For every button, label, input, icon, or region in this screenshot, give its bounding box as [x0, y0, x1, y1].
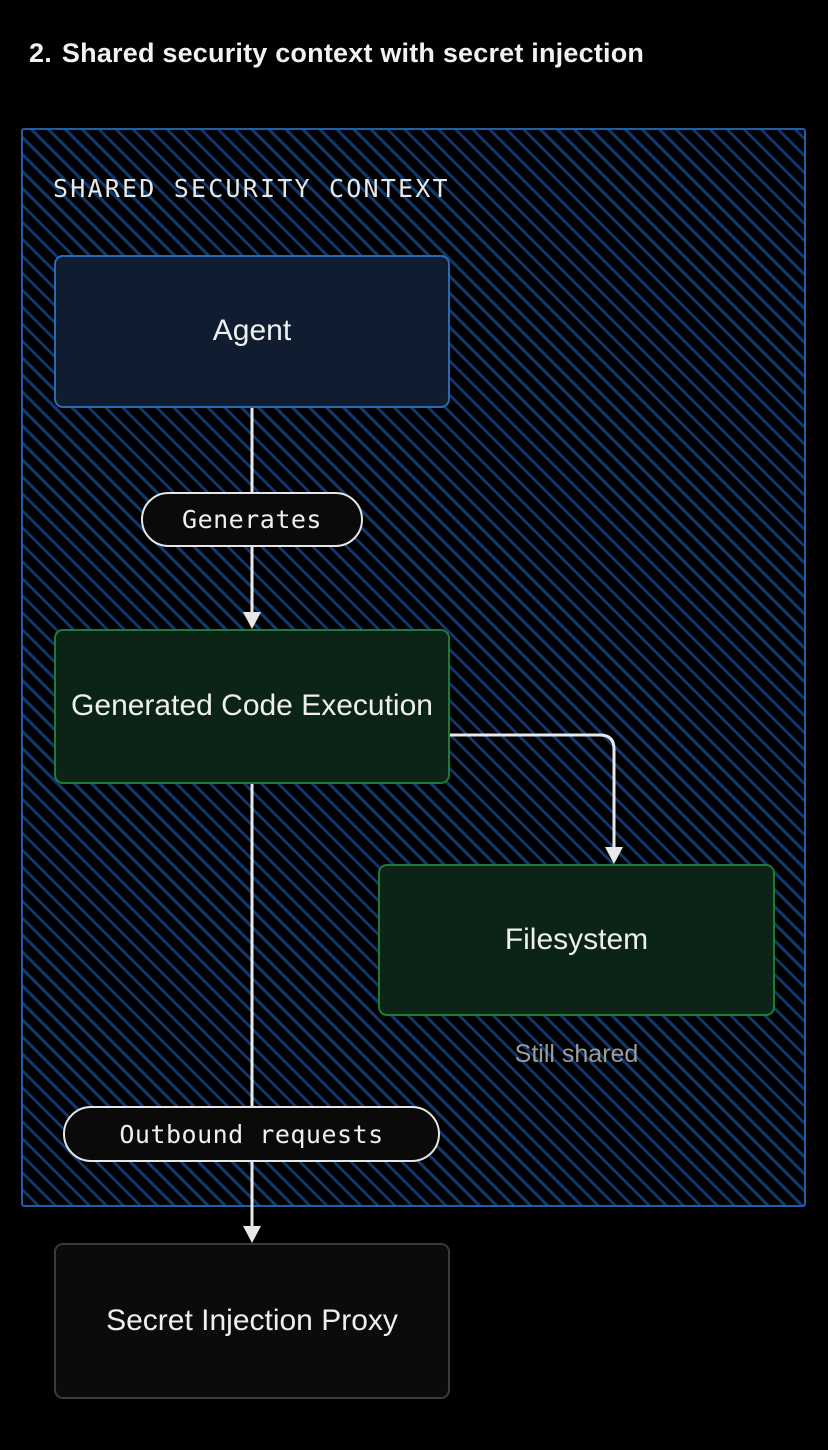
edge-label-generates: Generates: [141, 492, 363, 547]
node-secret-injection-proxy[interactable]: Secret Injection Proxy: [54, 1243, 450, 1399]
node-agent[interactable]: Agent: [54, 255, 450, 408]
arrowhead-icon: [243, 1226, 261, 1243]
node-secret-injection-proxy-label: Secret Injection Proxy: [106, 1301, 398, 1342]
edge-label-generates-text: Generates: [182, 505, 322, 534]
node-filesystem-label: Filesystem: [505, 920, 648, 961]
node-generated-code-execution-label: Generated Code Execution: [71, 686, 433, 727]
page-title: 2.Shared security context with secret in…: [29, 38, 644, 69]
caption-still-shared: Still shared: [378, 1040, 775, 1069]
shared-security-context-label: SHARED SECURITY CONTEXT: [53, 174, 450, 203]
page-title-text: Shared security context with secret inje…: [62, 38, 644, 68]
edge-label-outbound-requests: Outbound requests: [63, 1106, 440, 1162]
edge-label-outbound-requests-text: Outbound requests: [119, 1120, 383, 1149]
node-generated-code-execution[interactable]: Generated Code Execution: [54, 629, 450, 784]
page-title-number: 2.: [29, 38, 52, 68]
node-filesystem[interactable]: Filesystem: [378, 864, 775, 1016]
node-agent-label: Agent: [213, 311, 291, 352]
